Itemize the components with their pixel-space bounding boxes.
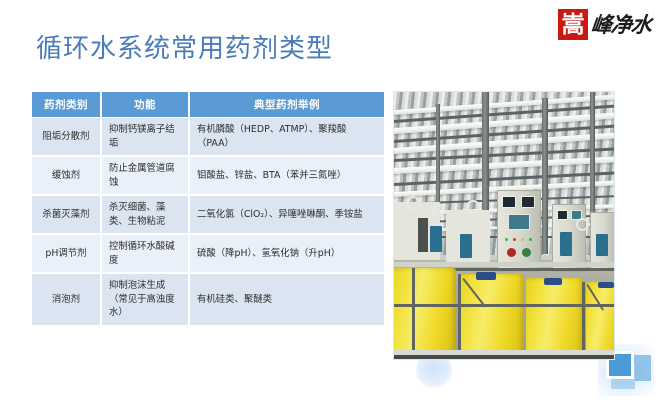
photo-pipe <box>394 262 615 267</box>
cell-category: 缓蚀剂 <box>32 156 101 195</box>
cell-function: 防止金属管道腐蚀 <box>101 156 189 195</box>
photo-valve <box>432 204 445 217</box>
cell-category: 消泡剂 <box>32 273 101 325</box>
cell-category: 杀菌灭藻剂 <box>32 195 101 234</box>
photo-indicator-light <box>505 238 508 241</box>
photo-hmi-screen <box>508 214 530 230</box>
cell-function: 杀灭细菌、藻类、生物粘泥 <box>101 195 189 234</box>
slide-canvas: 嵩 峰净水 循环水系统常用药剂类型 药剂类别 功能 典型药剂举例 阻垢分散剂 抑… <box>0 0 660 400</box>
company-logo: 嵩 峰净水 <box>558 7 651 41</box>
photo-emergency-stop <box>507 248 516 257</box>
photo-pump <box>460 234 472 258</box>
dosing-system-photo <box>393 91 615 360</box>
photo-meter <box>521 196 535 208</box>
table-row: 消泡剂 抑制泡沫生成（常见于高浊度水） 有机硅类、聚醚类 <box>32 273 384 325</box>
cell-category: pH调节剂 <box>32 234 101 273</box>
cell-examples: 二氧化氯（ClO₂）、异噻唑啉酮、季铵盐 <box>189 195 384 234</box>
table-row: 杀菌灭藻剂 杀灭细菌、藻类、生物粘泥 二氧化氯（ClO₂）、异噻唑啉酮、季铵盐 <box>32 195 384 234</box>
photo-pump <box>560 232 572 256</box>
photo-pump <box>430 226 442 252</box>
photo-tank-cap <box>544 278 562 285</box>
cell-examples: 钼酸盐、锌盐、BTA（苯并三氮唑） <box>189 156 384 195</box>
column-header-examples: 典型药剂举例 <box>189 92 384 118</box>
table-row: pH调节剂 控制循环水酸碱度 硫酸（降pH）、氢氧化钠（升pH） <box>32 234 384 273</box>
photo-dosing-tank <box>526 278 584 356</box>
photo-railing-post <box>458 274 461 354</box>
photo-meter <box>502 196 516 208</box>
photo-floor-shadow <box>394 355 615 360</box>
photo-dosing-tank <box>393 268 456 356</box>
photo-equipment <box>418 218 428 252</box>
chemical-types-table-wrapper: 药剂类别 功能 典型药剂举例 阻垢分散剂 抑制钙镁离子结垢 有机膦酸（HEDP、… <box>32 92 384 325</box>
column-header-function: 功能 <box>101 92 189 118</box>
table-row: 阻垢分散剂 抑制钙镁离子结垢 有机膦酸（HEDP、ATMP）、聚羧酸（PAA） <box>32 118 384 157</box>
cell-function: 控制循环水酸碱度 <box>101 234 189 273</box>
photo-valve <box>466 200 480 214</box>
cell-category: 阻垢分散剂 <box>32 118 101 157</box>
photo-valve <box>576 218 589 231</box>
photo-steel-column <box>542 98 548 254</box>
photo-meter <box>557 210 568 220</box>
cell-function: 抑制钙镁离子结垢 <box>101 118 189 157</box>
photo-valve <box>406 196 420 210</box>
photo-indicator-light <box>513 238 516 241</box>
page-title: 循环水系统常用药剂类型 <box>36 33 333 65</box>
cell-examples: 有机膦酸（HEDP、ATMP）、聚羧酸（PAA） <box>189 118 384 157</box>
photo-button <box>522 248 531 257</box>
photo-railing-post <box>582 282 585 354</box>
photo-railing-post <box>412 268 415 354</box>
table-header-row: 药剂类别 功能 典型药剂举例 <box>32 92 384 118</box>
column-header-category: 药剂类别 <box>32 92 101 118</box>
cell-examples: 硫酸（降pH）、氢氧化钠（升pH） <box>189 234 384 273</box>
cell-function: 抑制泡沫生成（常见于高浊度水） <box>101 273 189 325</box>
logo-seal-icon: 嵩 <box>558 9 588 40</box>
photo-indicator-light <box>521 238 524 241</box>
photo-tank-cap <box>476 272 496 280</box>
cell-examples: 有机硅类、聚醚类 <box>189 273 384 325</box>
photo-indicator-light <box>529 238 532 241</box>
logo-wordmark: 峰净水 <box>590 14 652 35</box>
table-row: 缓蚀剂 防止金属管道腐蚀 钼酸盐、锌盐、BTA（苯并三氮唑） <box>32 156 384 195</box>
photo-pump <box>596 234 608 256</box>
chemical-types-table: 药剂类别 功能 典型药剂举例 阻垢分散剂 抑制钙镁离子结垢 有机膦酸（HEDP、… <box>32 92 384 325</box>
photo-tank-cap <box>598 282 614 288</box>
